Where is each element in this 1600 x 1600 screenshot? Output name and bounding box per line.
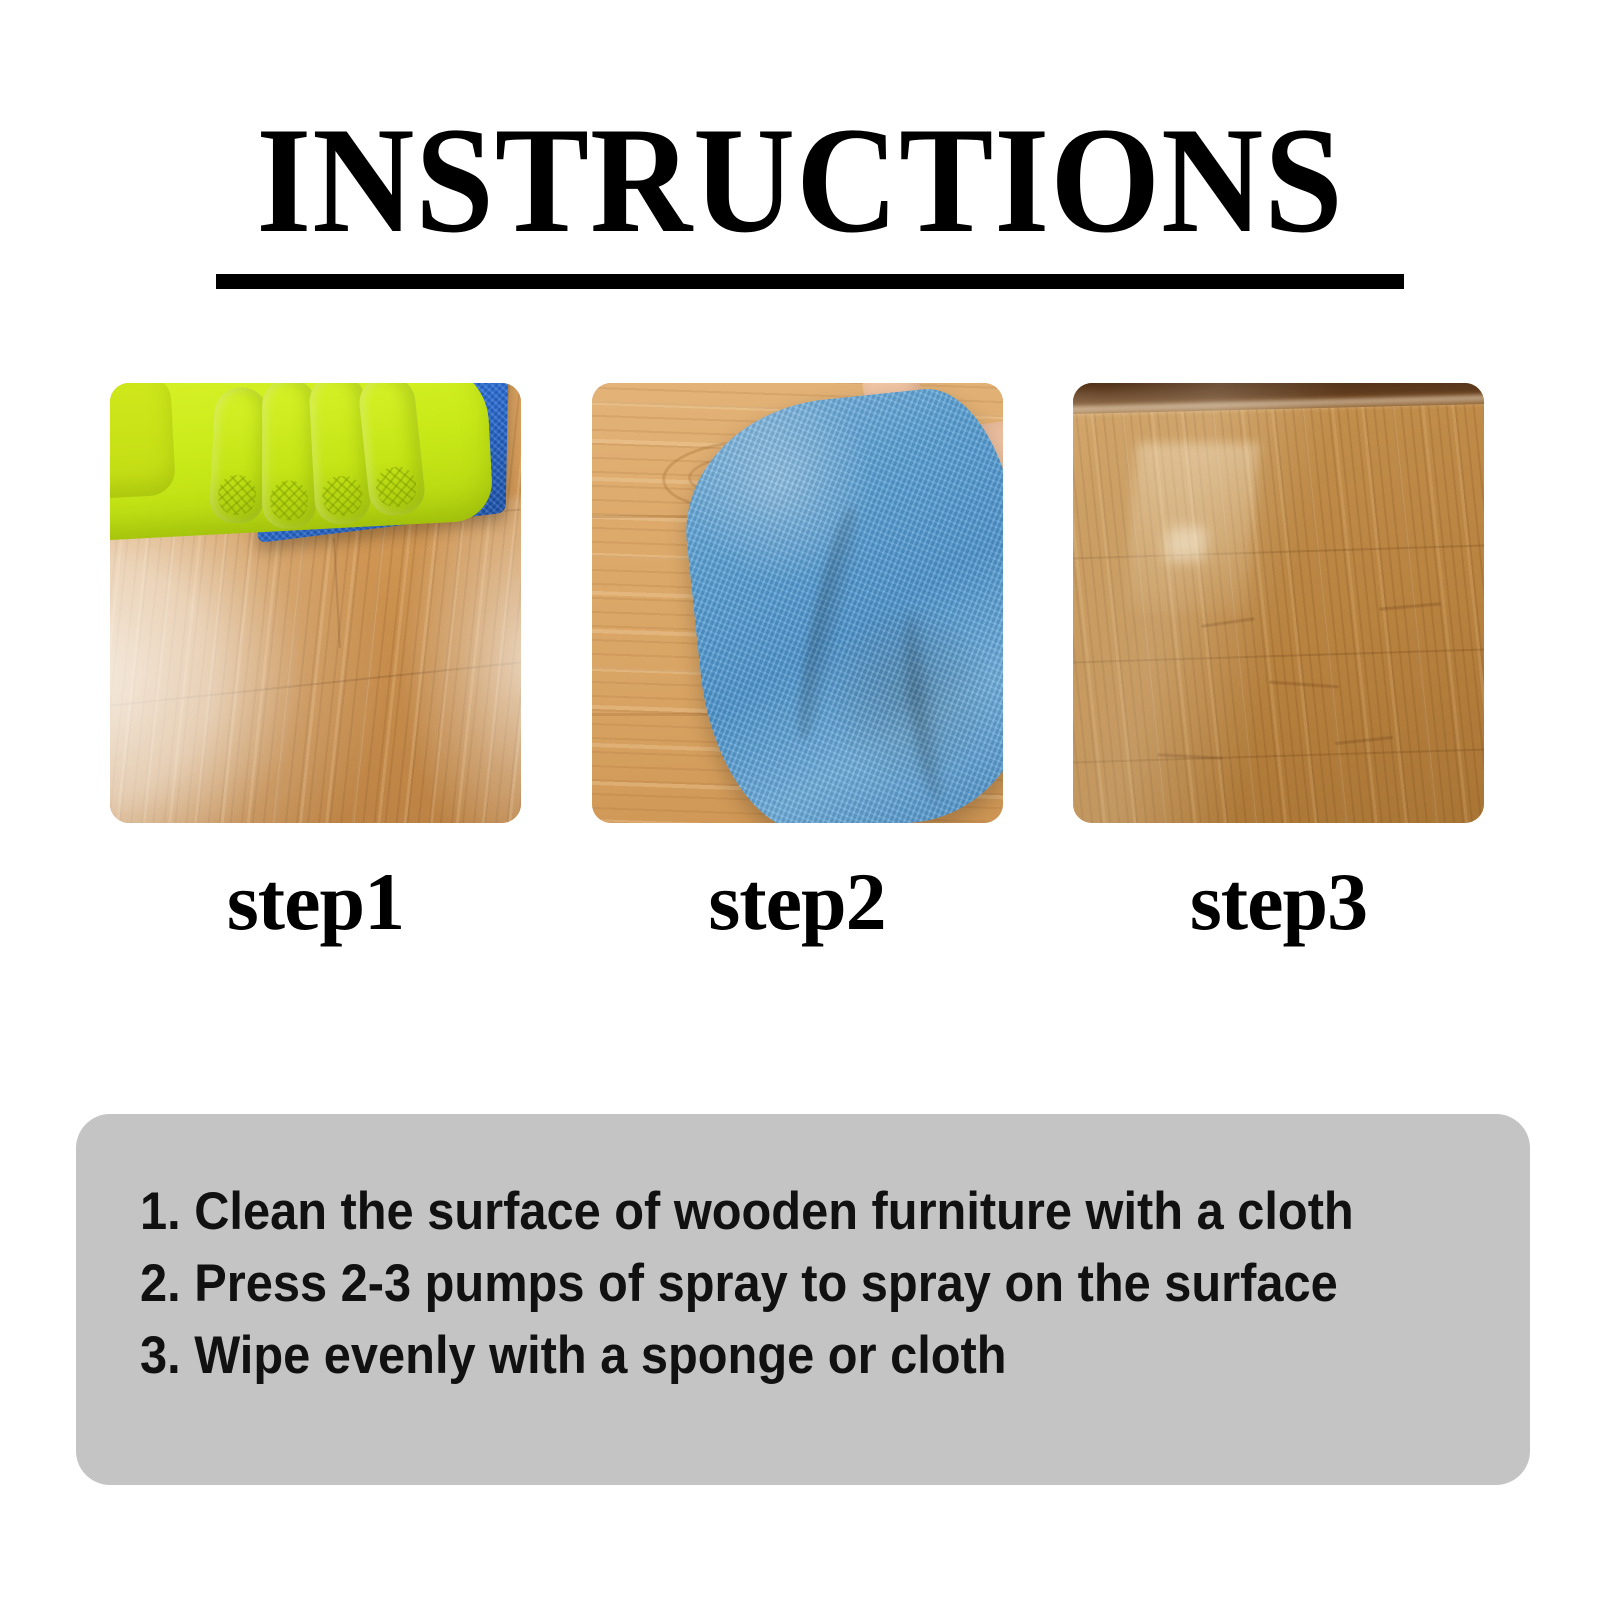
glove-finger bbox=[209, 386, 270, 525]
instructions-panel: 1. Clean the surface of wooden furniture… bbox=[76, 1114, 1530, 1485]
step-column-2: step2 bbox=[592, 383, 1003, 943]
title-underline-rule bbox=[216, 274, 1404, 289]
gloved-hand-sponge-photo bbox=[110, 383, 521, 823]
instruction-line-2: 2. Press 2-3 pumps of spray to spray on … bbox=[140, 1248, 1419, 1320]
instruction-line-1: 1. Clean the surface of wooden furniture… bbox=[140, 1176, 1419, 1248]
glove-cuff bbox=[110, 383, 176, 502]
step-column-1: step1 bbox=[110, 383, 521, 943]
steps-row: step1 step2 bbox=[110, 383, 1484, 943]
glove-finger bbox=[262, 383, 316, 529]
hazy-residue-streak bbox=[373, 497, 521, 823]
rubber-glove bbox=[110, 383, 494, 542]
step-column-3: step3 bbox=[1073, 383, 1484, 943]
hand-microfiber-cloth-photo bbox=[592, 383, 1003, 823]
gloss-sheen bbox=[1073, 383, 1484, 823]
page-title-block: INSTRUCTIONS bbox=[0, 104, 1600, 256]
step-label-3: step3 bbox=[1190, 861, 1367, 943]
page-title: INSTRUCTIONS bbox=[56, 104, 1544, 256]
step-label-2: step2 bbox=[708, 861, 885, 943]
instruction-line-3: 3. Wipe evenly with a sponge or cloth bbox=[140, 1320, 1419, 1392]
polished-wood-floor-photo bbox=[1073, 383, 1484, 823]
step-label-1: step1 bbox=[227, 861, 404, 943]
